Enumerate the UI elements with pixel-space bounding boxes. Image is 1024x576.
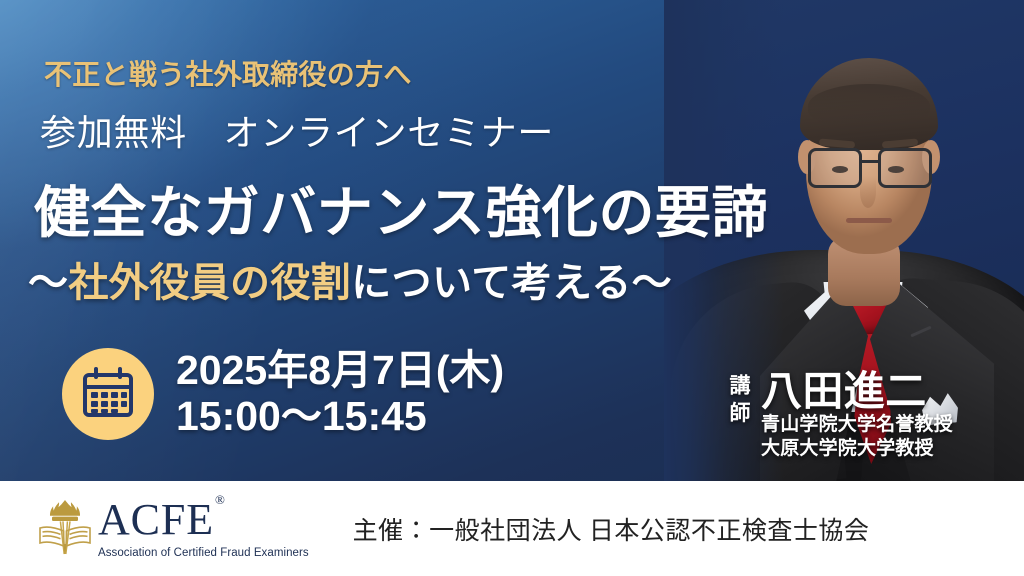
subtitle-tail: について考える〜 (351, 261, 672, 305)
portrait-nose (860, 176, 876, 208)
eyeglass-lens-left (808, 148, 862, 188)
speaker-label: 講師 (728, 370, 749, 429)
schedule-block: 2025年8月7日(木) 15:00〜15:45 (62, 348, 504, 440)
eyeglass-lens-right (878, 148, 932, 188)
kicker-headline: 不正と戦う社外取締役の方へ (44, 53, 412, 93)
acfe-word-text: ACFE (98, 495, 214, 544)
footer-bar: ACFE® Association of Certified Fraud Exa… (0, 481, 1024, 576)
host-organization: 主催：一般社団法人 日本公認不正検査士協会 (353, 511, 870, 547)
seminar-date: 2025年8月7日(木) (176, 348, 504, 394)
acfe-word: ACFE® (98, 498, 309, 542)
speaker-affiliation-2: 大原大学院大学教授 (761, 437, 953, 461)
subtitle-highlight: 社外役員の役割 (68, 261, 351, 305)
speaker-name: 八田進二 (761, 370, 953, 413)
speaker-affiliation-1: 青山学院大学名誉教授 (761, 413, 953, 437)
schedule-text: 2025年8月7日(木) 15:00〜15:45 (176, 348, 504, 440)
subkicker-headline: 参加無料 オンラインセミナー (40, 104, 554, 156)
acfe-torch-book-icon (36, 498, 94, 560)
seminar-time: 15:00〜15:45 (176, 394, 504, 440)
registered-mark: ® (215, 492, 226, 507)
speaker-block: 講師 八田進二 青山学院大学名誉教授 大原大学院大学教授 (728, 370, 953, 461)
seminar-title: 健全なガバナンス強化の要諦 (34, 168, 768, 249)
portrait-mouth (846, 218, 892, 223)
acfe-wordmark: ACFE® Association of Certified Fraud Exa… (98, 498, 309, 559)
seminar-banner: 不正と戦う社外取締役の方へ 参加無料 オンラインセミナー 健全なガバナンス強化の… (0, 0, 1024, 576)
acfe-tagline: Association of Certified Fraud Examiners (98, 547, 309, 559)
subtitle-lead: 〜 (28, 261, 68, 305)
acfe-logo: ACFE® Association of Certified Fraud Exa… (36, 498, 309, 560)
seminar-subtitle: 〜社外役員の役割について考える〜 (28, 250, 672, 308)
speaker-details: 八田進二 青山学院大学名誉教授 大原大学院大学教授 (761, 370, 953, 461)
calendar-icon (62, 348, 154, 440)
